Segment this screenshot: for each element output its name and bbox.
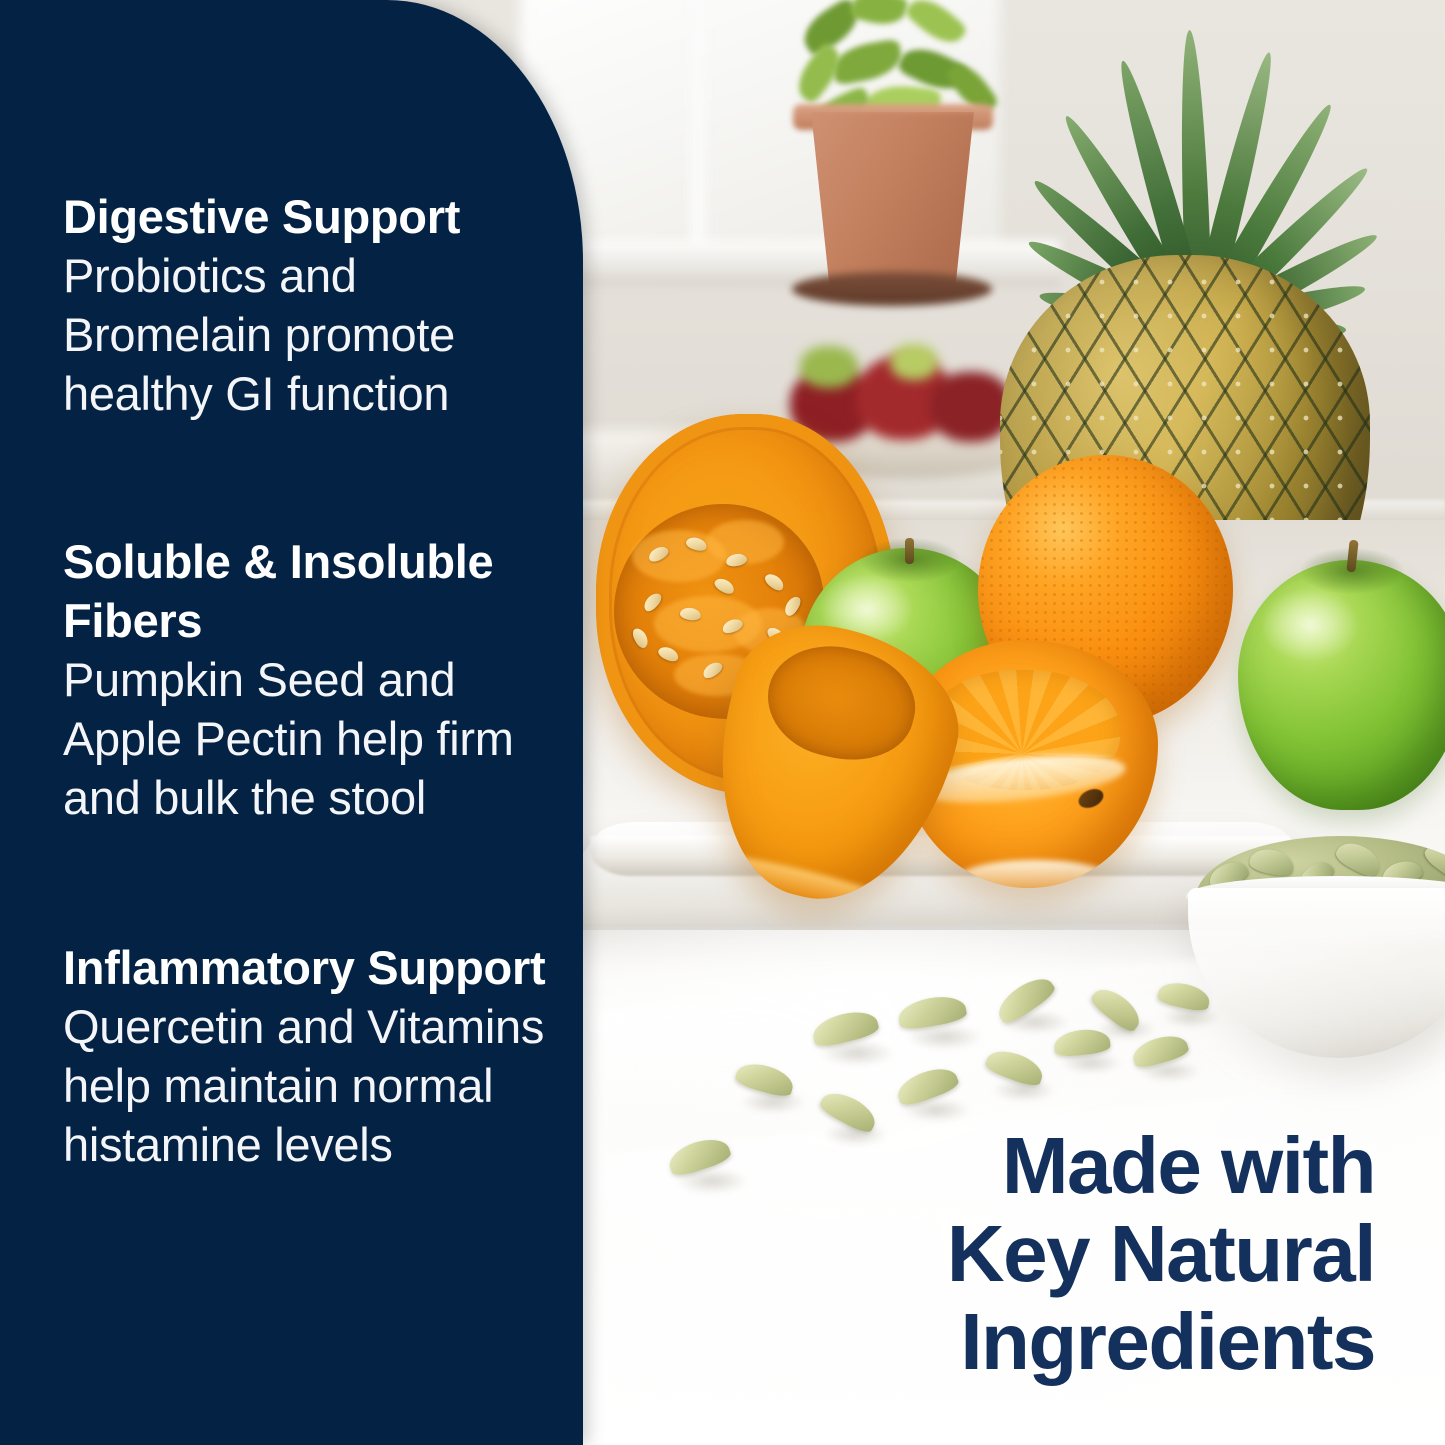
benefit-item-inflammatory-support: Inflammatory Support Quercetin and Vitam…	[63, 938, 563, 1174]
benefit-heading: Soluble & Insoluble Fibers	[63, 532, 563, 650]
terracotta-pot	[800, 112, 985, 287]
pot-saucer	[792, 272, 992, 306]
window-mullion	[690, 0, 706, 260]
green-apple-right	[1238, 560, 1445, 810]
benefit-item-digestive-support: Digestive Support Probiotics and Bromela…	[63, 187, 563, 423]
benefit-heading: Inflammatory Support	[63, 938, 563, 997]
benefit-body: Probiotics and Bromelain promote healthy…	[63, 246, 563, 423]
infographic-canvas: Made with Key Natural Ingredients Digest…	[0, 0, 1445, 1445]
headline-line-2: Key Natural	[735, 1210, 1375, 1298]
benefits-panel: Digestive Support Probiotics and Bromela…	[0, 0, 583, 1445]
headline-line-3: Ingredients	[735, 1298, 1375, 1386]
benefit-item-soluble-insoluble-fibers: Soluble & Insoluble Fibers Pumpkin Seed …	[63, 532, 563, 827]
benefit-body: Quercetin and Vitamins help maintain nor…	[63, 997, 563, 1174]
benefit-heading: Digestive Support	[63, 187, 563, 246]
apple-stem-left	[905, 538, 914, 564]
benefit-body: Pumpkin Seed and Apple Pectin help firm …	[63, 650, 563, 827]
pumpkin-wedge-core	[756, 632, 926, 775]
headline-line-1: Made with	[735, 1122, 1375, 1210]
orange-pith-lower	[960, 860, 1110, 888]
headline-made-with-key-natural-ingredients: Made with Key Natural Ingredients	[735, 1122, 1375, 1386]
